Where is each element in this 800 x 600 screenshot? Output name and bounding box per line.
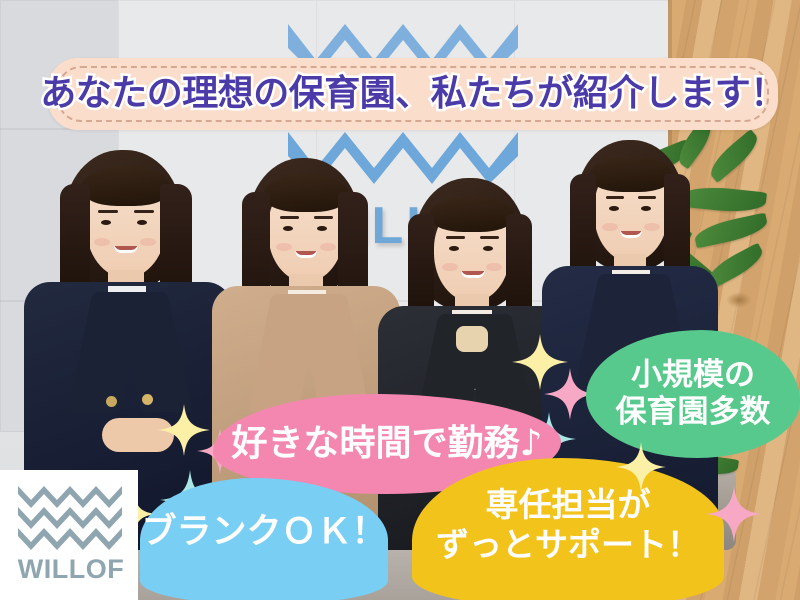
bubble-small-scale-nurseries: 小規模の 保育園多数 [586, 330, 800, 458]
bubble-line: 保育園多数 [616, 394, 771, 431]
bubble-line: ずっとサポート！ [436, 525, 700, 565]
zigzag-waves-icon [18, 484, 122, 550]
bubble-blank-ok: ブランクＯＫ！ [140, 478, 388, 600]
brand-logo-card: WILLOF [0, 470, 138, 600]
brand-wordmark: WILLOF [16, 556, 126, 583]
headline-banner: あなたの理想の保育園、私たちが紹介します！ [48, 58, 778, 130]
bubble-line: ブランクＯＫ！ [141, 511, 386, 553]
bubble-line: 好きな時間で勤務♪ [232, 422, 543, 465]
bubble-line: 小規模の [616, 357, 771, 394]
ad-banner-image: WILLOF [0, 0, 800, 600]
sparkle-icon [706, 486, 762, 542]
sparkle-icon [616, 442, 666, 492]
headline-text: あなたの理想の保育園、私たちが紹介します！ [48, 58, 778, 130]
bubble-dedicated-support: 専任担当が ずっとサポート！ [412, 458, 724, 600]
